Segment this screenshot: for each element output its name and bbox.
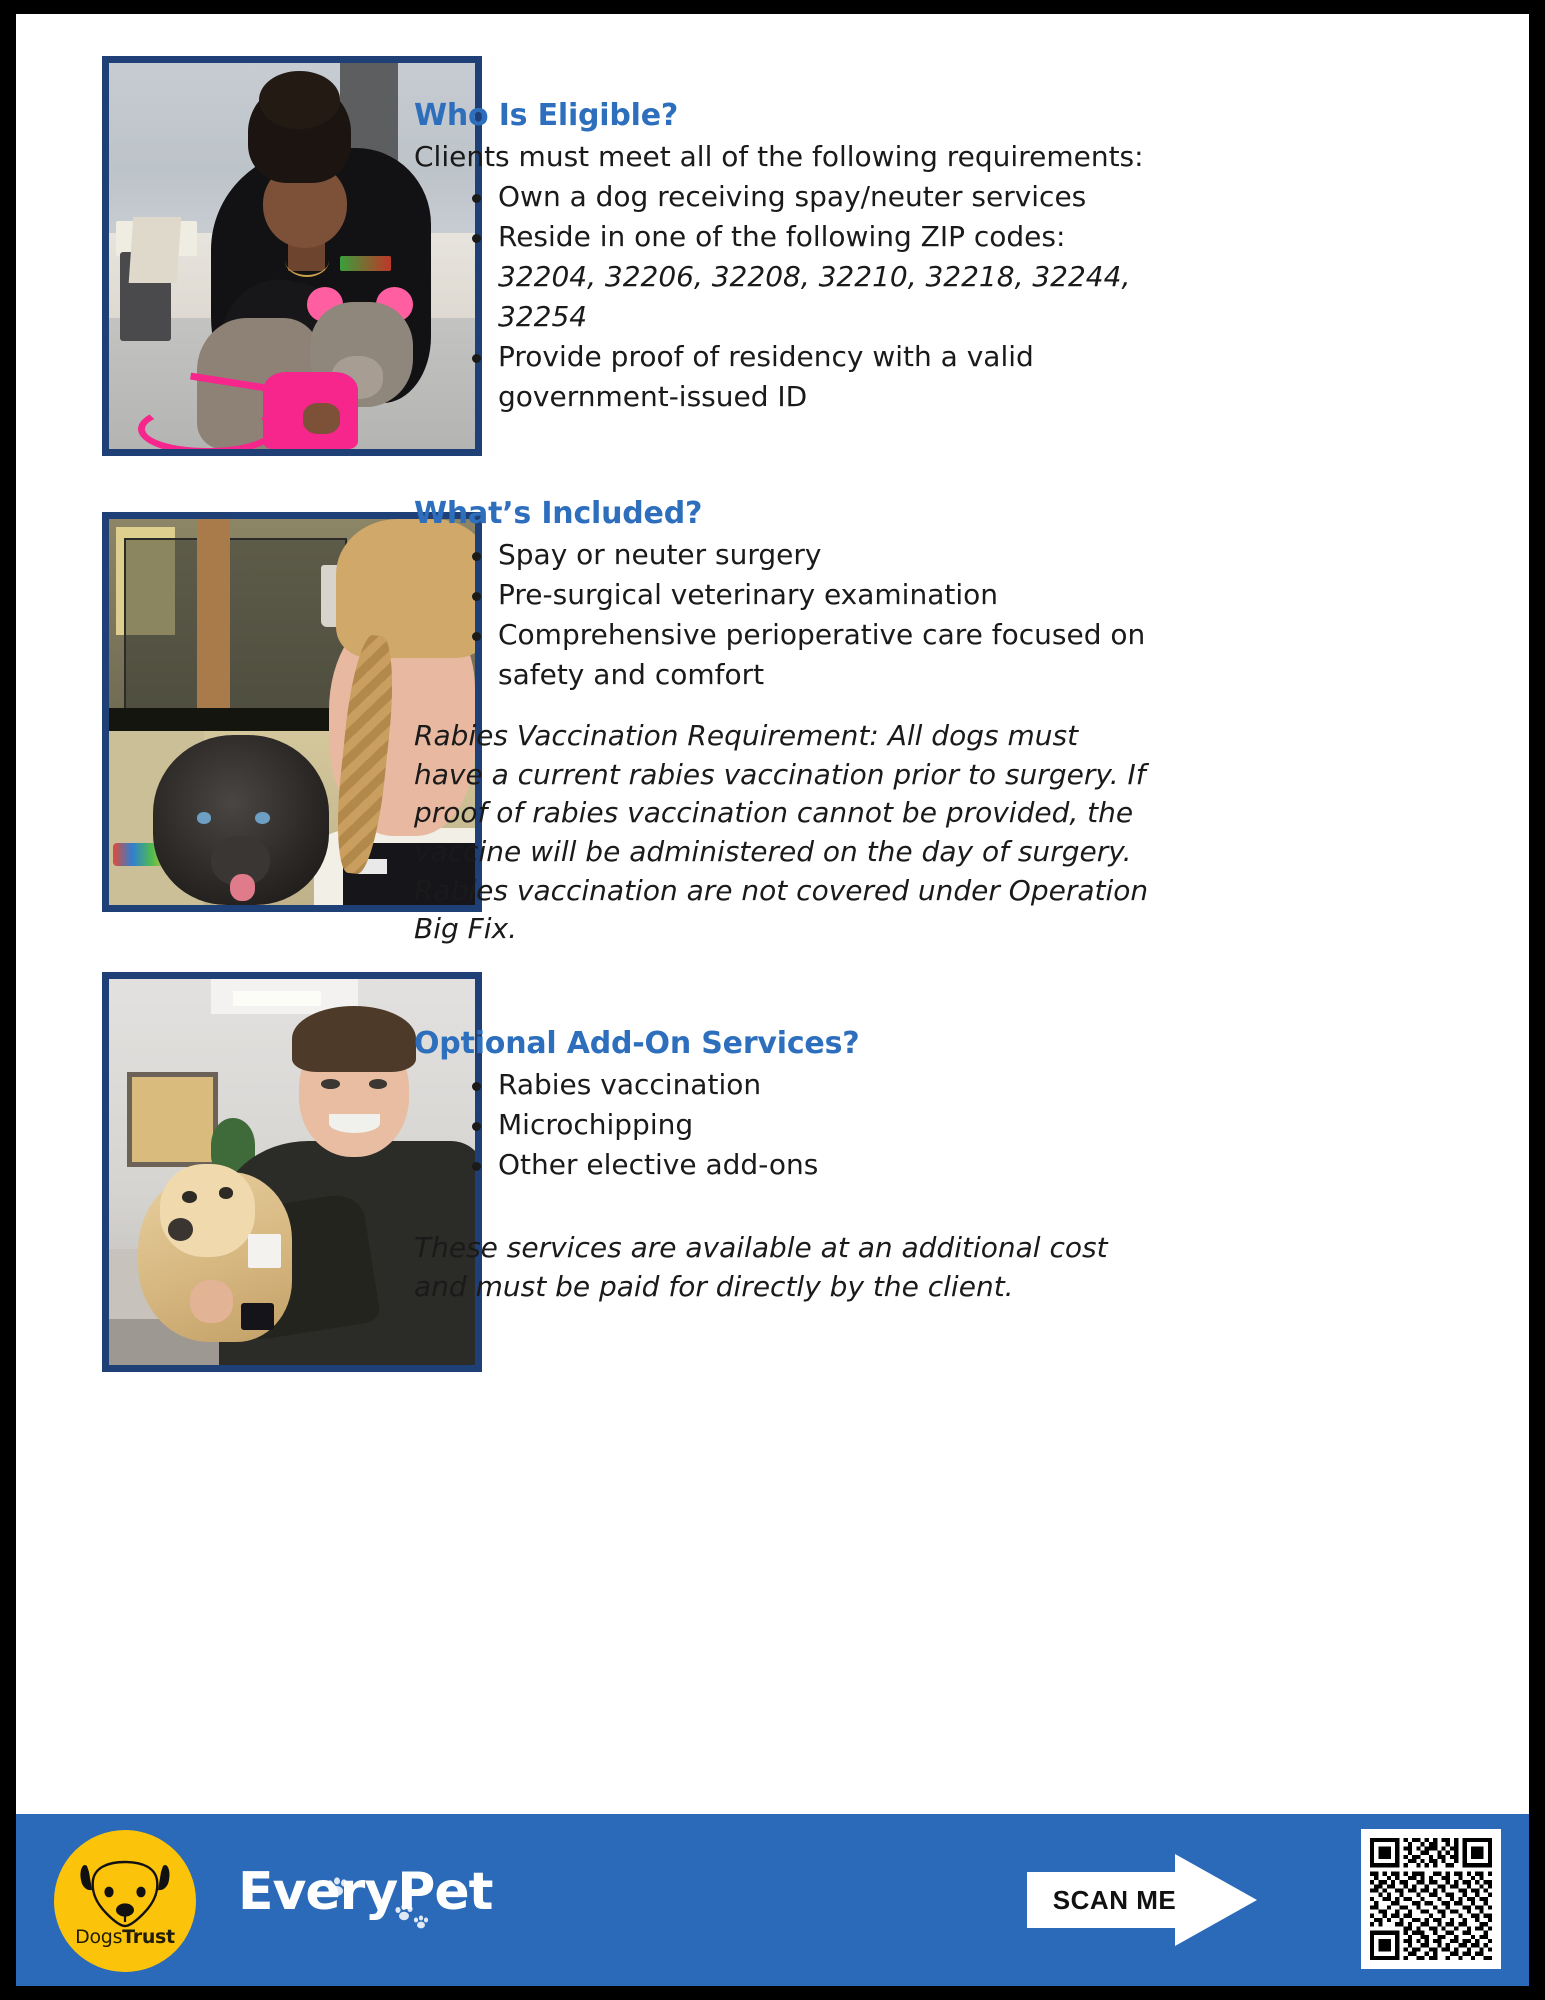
dogs-trust-word-2: Trust: [122, 1926, 175, 1948]
bullet-list-optional-addons: Rabies vaccination Microchipping Other e…: [414, 1065, 1154, 1185]
section-lead-eligibility: Clients must meet all of the following r…: [414, 137, 1154, 177]
dogs-trust-logo: DogsTrust: [54, 1830, 196, 1972]
photo3-wristwatch: [241, 1303, 274, 1330]
bullet-list-whats-included: Spay or neuter surgery Pre-surgical vete…: [414, 535, 1154, 695]
section-heading-eligibility: Who Is Eligible?: [414, 98, 1154, 133]
bullet-text: Pre-surgical veterinary examination: [498, 578, 998, 611]
poster-sheet: Who Is Eligible? Clients must meet all o…: [16, 14, 1529, 1986]
scan-me-label: SCAN ME: [1027, 1872, 1202, 1928]
additional-cost-note: These services are available at an addit…: [414, 1229, 1154, 1306]
bullet-text: Microchipping: [498, 1108, 693, 1141]
list-item: Microchipping: [466, 1105, 1154, 1145]
poster-page: Who Is Eligible? Clients must meet all o…: [0, 0, 1545, 2000]
list-item: Spay or neuter surgery: [466, 535, 1154, 575]
section-heading-whats-included: What’s Included?: [414, 496, 1154, 531]
list-item: Own a dog receiving spay/neuter services: [466, 177, 1154, 217]
list-item: Reside in one of the following ZIP codes…: [466, 217, 1154, 337]
photo2-dog-tongue: [230, 874, 256, 901]
bullet-text: Spay or neuter surgery: [498, 538, 822, 571]
bullet-text: Rabies vaccination: [498, 1068, 761, 1101]
dogs-trust-word-1: Dogs: [75, 1926, 122, 1948]
section-optional-addons: Optional Add-On Services? Rabies vaccina…: [414, 1026, 1154, 1306]
photo3-person-eye-right: [369, 1079, 387, 1089]
list-item: Pre-surgical veterinary examination: [466, 575, 1154, 615]
poster-content: Who Is Eligible? Clients must meet all o…: [16, 14, 1529, 1986]
photo3-ceiling-light: [233, 991, 321, 1006]
bullet-text: Own a dog receiving spay/neuter services: [498, 180, 1086, 213]
photo1-person-hairbun: [259, 71, 340, 129]
photo1-pink-leash-loop: [138, 403, 276, 449]
photo3-dog-head: [160, 1164, 255, 1257]
footer-banner: DogsTrust EveryPet: [16, 1814, 1529, 1986]
list-item: Provide proof of residency with a valid …: [466, 337, 1154, 417]
bullet-text: Comprehensive perioperative care focused…: [498, 618, 1145, 691]
bullet-text: Provide proof of residency with a valid …: [498, 340, 1034, 413]
dog-face-icon: [73, 1860, 177, 1932]
zip-codes: 32204, 32206, 32208, 32210, 32218, 32244…: [498, 260, 1130, 333]
list-item: Rabies vaccination: [466, 1065, 1154, 1105]
list-item: Other elective add-ons: [466, 1145, 1154, 1185]
bullet-list-eligibility: Own a dog receiving spay/neuter services…: [414, 177, 1154, 417]
photo1-person-hand: [303, 403, 340, 434]
qr-code-icon: [1370, 1838, 1492, 1960]
photo2-shelf: [109, 708, 351, 731]
photo3-person-hair: [292, 1006, 416, 1072]
photo2-wood-post: [197, 519, 230, 720]
list-item: Comprehensive perioperative care focused…: [466, 615, 1154, 695]
qr-code[interactable]: [1361, 1829, 1501, 1969]
dogs-trust-wordmark: DogsTrust: [54, 1926, 196, 1948]
photo3-wall-frame: [127, 1072, 218, 1167]
photo3-person-hand: [190, 1280, 234, 1322]
photo3-dog-tag: [248, 1234, 281, 1269]
bullet-text: Other elective add-ons: [498, 1148, 818, 1181]
everypet-logo: EveryPet: [238, 1862, 492, 1922]
photo1-cloth: [129, 217, 181, 283]
section-eligibility: Who Is Eligible? Clients must meet all o…: [414, 98, 1154, 417]
photo1-uniform-logo: [340, 256, 391, 271]
rabies-vaccination-note: Rabies Vaccination Requirement: All dogs…: [414, 717, 1154, 949]
bullet-text: Reside in one of the following ZIP codes…: [498, 220, 1065, 253]
photo2-dog-eye-right: [255, 812, 270, 824]
photo3-dog-eye-left: [182, 1191, 197, 1203]
section-whats-included: What’s Included? Spay or neuter surgery …: [414, 496, 1154, 949]
photo2-glass-window: [124, 538, 348, 712]
section-heading-optional-addons: Optional Add-On Services?: [414, 1026, 1154, 1061]
scan-me-button[interactable]: SCAN ME: [1027, 1854, 1297, 1946]
photo3-person-eye-left: [321, 1079, 339, 1089]
photo1-necklace: [285, 244, 329, 277]
